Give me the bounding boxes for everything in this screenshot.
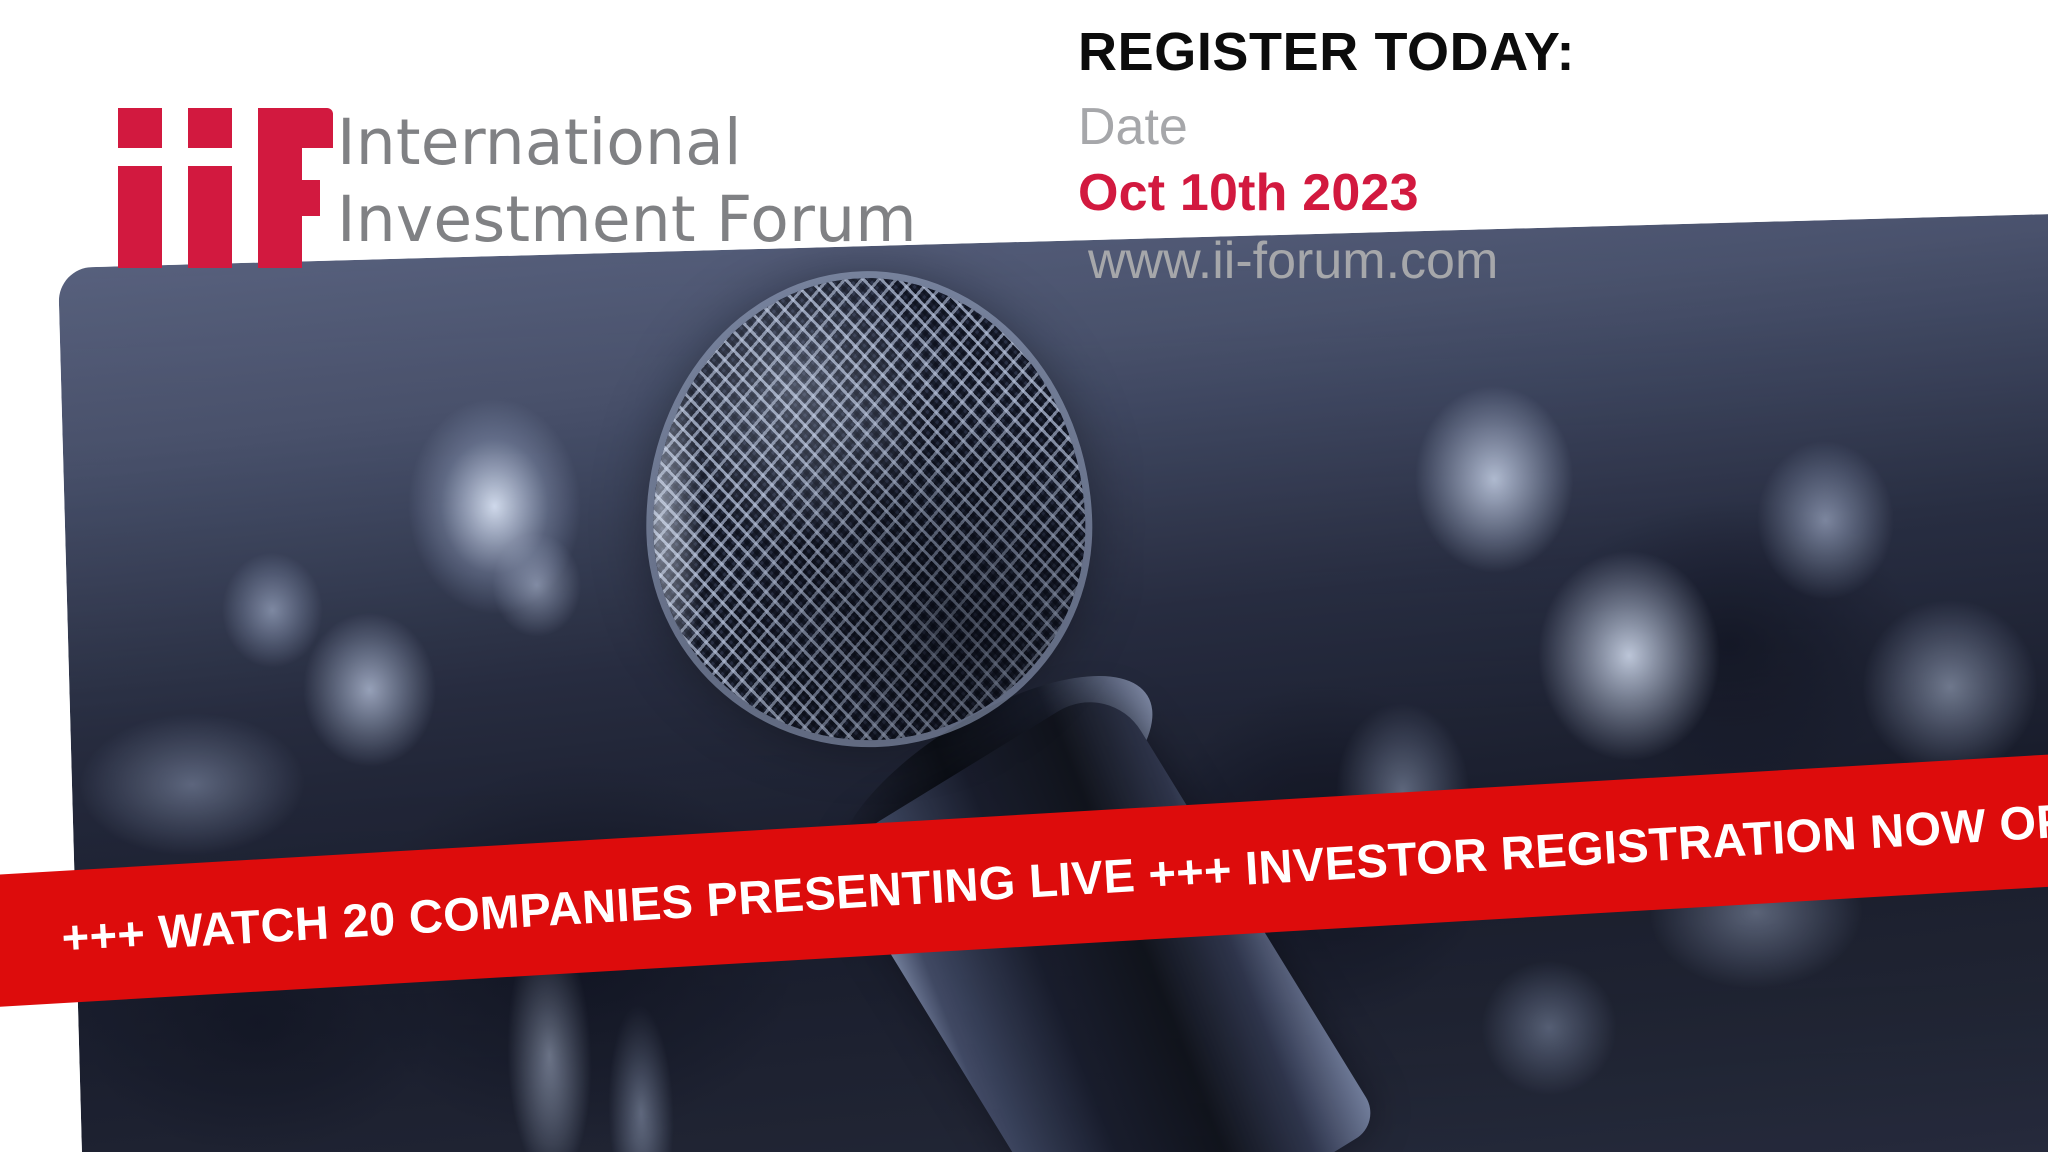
date-label: Date xyxy=(1078,94,1575,160)
microphone-head xyxy=(647,272,1091,746)
hero-photo xyxy=(58,212,2048,1152)
stage-background-image xyxy=(58,212,2048,1152)
microphone-graphic xyxy=(618,241,1464,1152)
brand-wordmark: International Investment Forum xyxy=(337,104,917,258)
banner-creative: International Investment Forum REGISTER … xyxy=(0,0,2048,1152)
microphone-shading xyxy=(647,272,1091,746)
event-date: Oct 10th 2023 xyxy=(1078,162,1575,224)
brand-logo[interactable]: International Investment Forum xyxy=(110,108,917,268)
brand-name-line-1: International xyxy=(337,104,917,181)
iif-logo-icon xyxy=(110,108,305,268)
register-title: REGISTER TODAY: xyxy=(1078,22,1575,82)
microphone-mesh-grille xyxy=(647,272,1091,746)
